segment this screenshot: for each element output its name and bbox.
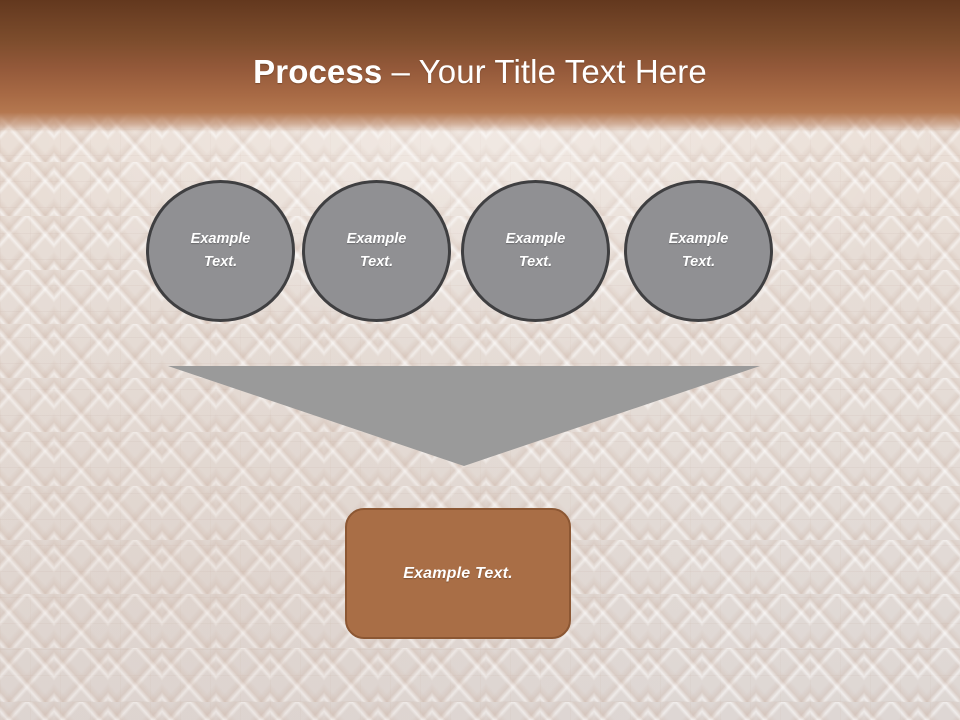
page-title-bold: Process — [253, 53, 382, 90]
down-arrow — [168, 366, 760, 466]
process-step-label: Example Text. — [669, 228, 729, 274]
result-box-label: Example Text. — [403, 565, 513, 583]
process-step-circle-2[interactable]: Example Text. — [302, 180, 451, 322]
result-box[interactable]: Example Text. — [345, 508, 571, 639]
process-step-label: Example Text. — [191, 228, 251, 274]
process-step-circle-1[interactable]: Example Text. — [146, 180, 295, 322]
process-step-circle-4[interactable]: Example Text. — [624, 180, 773, 322]
process-step-label: Example Text. — [347, 228, 407, 274]
page-title: Process – Your Title Text Here — [0, 52, 960, 92]
process-step-label: Example Text. — [506, 228, 566, 274]
process-step-circle-3[interactable]: Example Text. — [461, 180, 610, 322]
page-title-rest: – Your Title Text Here — [382, 53, 707, 90]
slide-canvas: Process – Your Title Text Here Example T… — [0, 0, 960, 720]
down-arrow-icon — [168, 366, 760, 466]
